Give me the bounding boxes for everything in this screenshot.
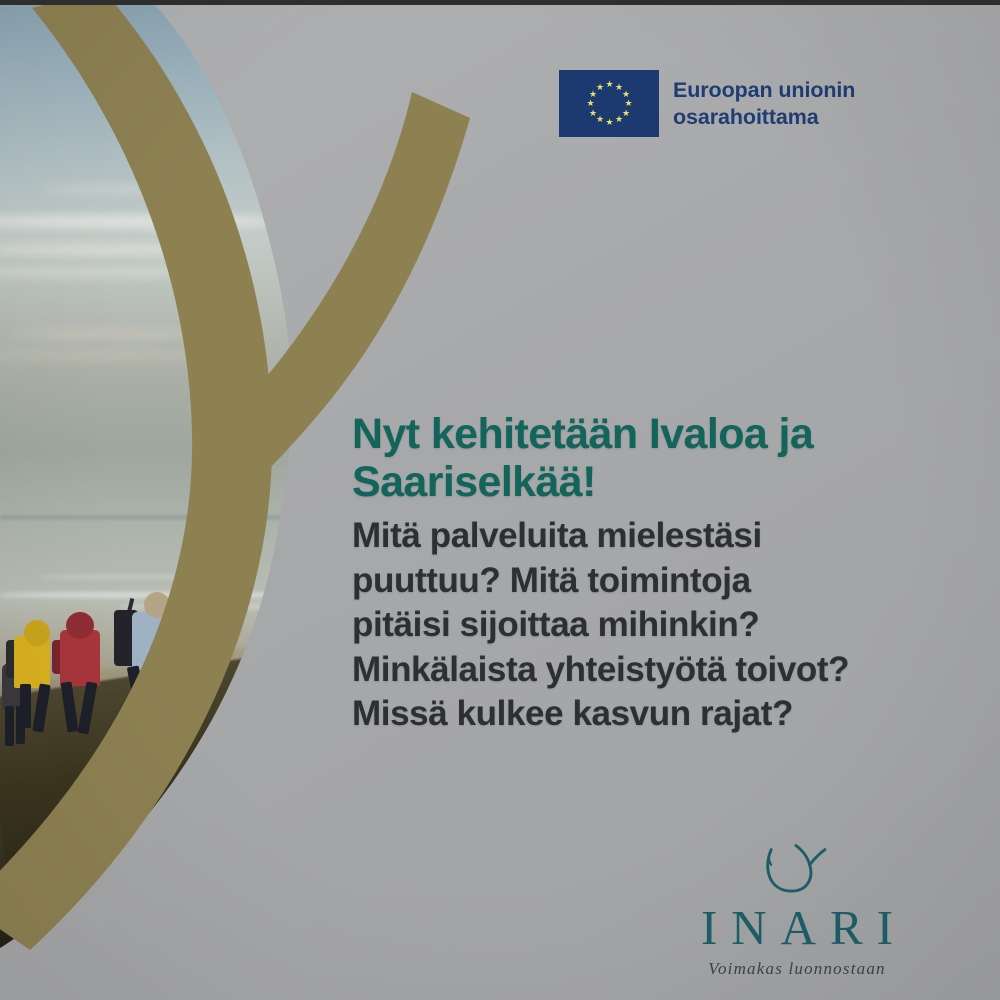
leg (127, 665, 149, 722)
european-union-flag: ★★★★★★★★★★★★ (559, 70, 659, 137)
head (144, 592, 170, 618)
hiker-blue-jacket (110, 590, 200, 735)
leg (78, 681, 98, 734)
poster-canvas: ★★★★★★★★★★★★ Euroopan unionin osarahoitt… (0, 0, 1000, 1000)
cloud-streak (10, 330, 210, 338)
eu-star-icon: ★ (615, 84, 622, 91)
eu-star-icon: ★ (596, 84, 603, 91)
inari-wordmark: INARI (672, 903, 922, 952)
eu-star-icon: ★ (622, 110, 629, 117)
eu-star-icon: ★ (606, 81, 613, 88)
eu-star-icon: ★ (622, 91, 629, 98)
water-glint (40, 575, 220, 579)
cloud-streak (40, 185, 220, 193)
eu-funding-text: Euroopan unionin osarahoittama (673, 77, 855, 129)
hood (66, 612, 94, 639)
eu-star-icon: ★ (615, 116, 622, 123)
page-title: Nyt kehitetään Ivaloa ja Saariselkää! (352, 410, 952, 506)
leg (32, 683, 50, 732)
main-copy-block: Nyt kehitetään Ivaloa ja Saariselkää! Mi… (352, 410, 952, 737)
inari-tagline: Voimakas luonnostaan (672, 959, 922, 979)
eu-star-icon: ★ (606, 119, 613, 126)
eu-star-icon: ★ (589, 110, 596, 117)
leg (146, 665, 171, 724)
inari-swoosh-mark (756, 840, 839, 902)
eu-funding-logo: ★★★★★★★★★★★★ Euroopan unionin osarahoitt… (559, 70, 855, 137)
eu-star-icon: ★ (589, 91, 596, 98)
eu-star-icon: ★ (625, 100, 632, 107)
eu-star-icon: ★ (596, 116, 603, 123)
leg (20, 684, 31, 728)
eu-star-icon: ★ (587, 100, 594, 107)
page-body-questions: Mitä palveluita mielestäsi puuttuu? Mitä… (352, 514, 952, 736)
hood (24, 620, 50, 646)
inari-logo: INARI Voimakas luonnostaan (672, 840, 922, 979)
leg (61, 681, 79, 732)
top-edge-bar (0, 0, 1000, 5)
jacket (132, 612, 172, 670)
